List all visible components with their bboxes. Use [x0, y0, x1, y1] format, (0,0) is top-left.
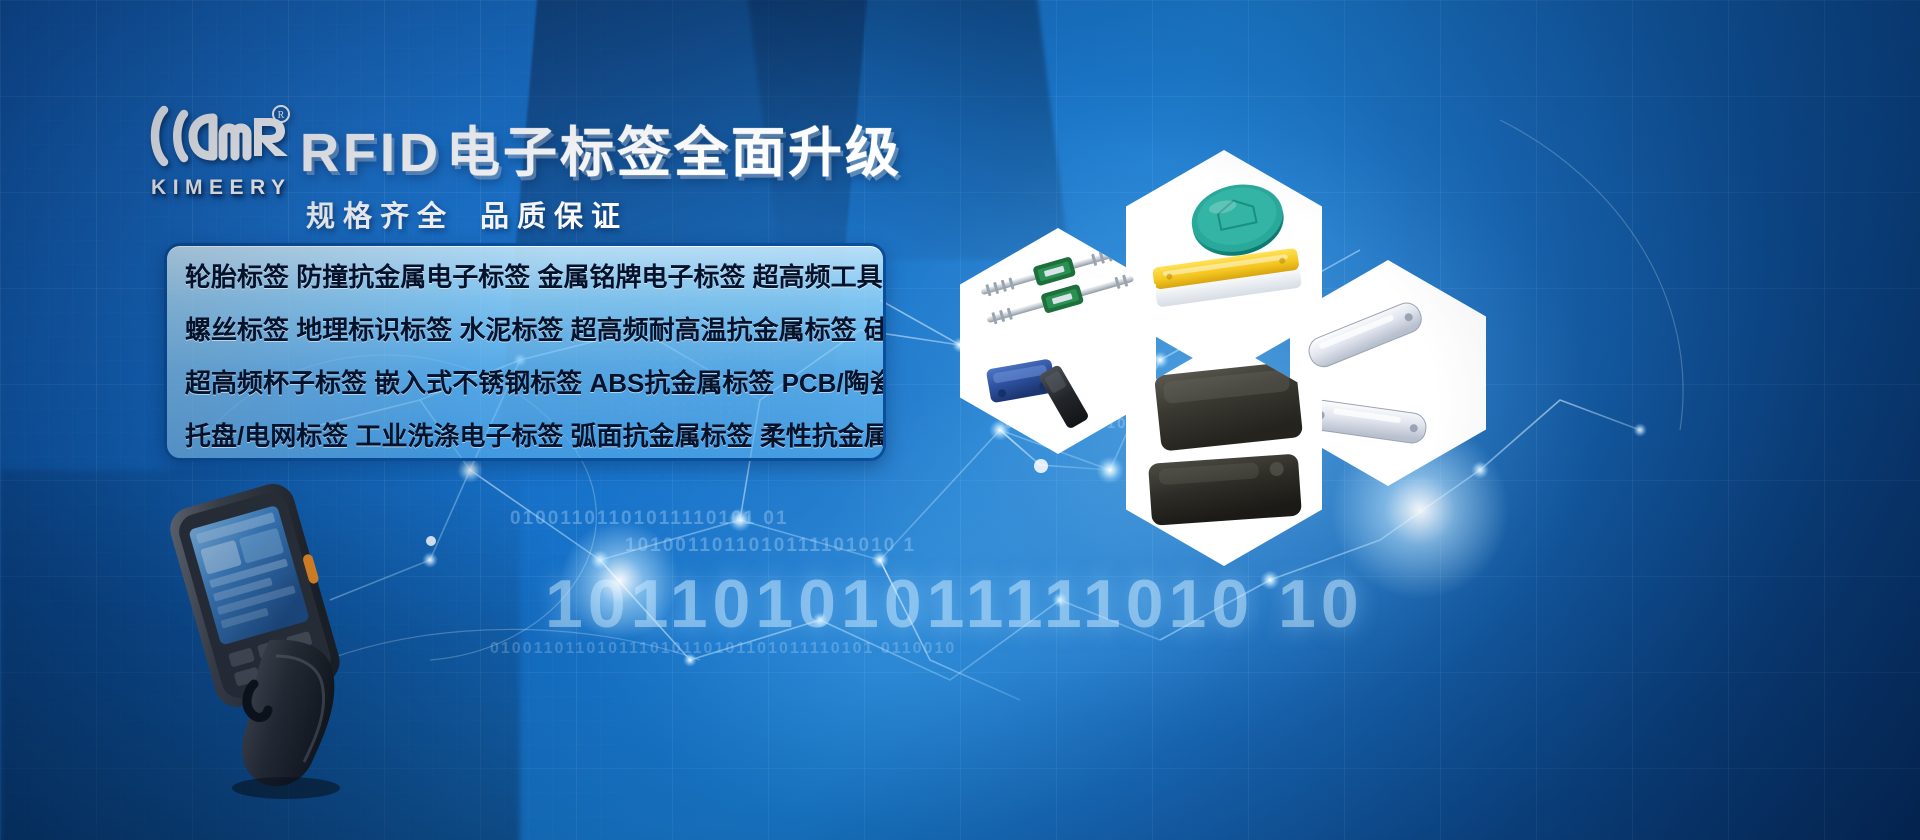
- white-flex-strap-tag: [1305, 299, 1428, 445]
- handheld-rfid-reader: [150, 470, 400, 800]
- registered-trademark-icon: R: [273, 106, 289, 122]
- rfid-promo-banner: 0100110110101111010101 01001101101011110…: [0, 0, 1920, 840]
- page-title: RFID电子标签全面升级: [300, 108, 902, 187]
- binary-stream-2: 01001101101011110101 01: [510, 508, 789, 530]
- tag-row: 超高频杯子标签 嵌入式不锈钢标签 ABS抗金属标签 PCB/陶瓷电子标签: [167, 358, 883, 408]
- blue-block-tags: [1038, 364, 1090, 430]
- dark-grey-abs-tags: [1154, 361, 1303, 451]
- headline-cjk: 电子标签全面升级: [446, 123, 902, 183]
- binary-stream-3: 1010011011010111101010 1: [625, 535, 916, 557]
- yellow-strip-tag: [1152, 248, 1302, 308]
- product-tag-list-panel: 轮胎标签 防撞抗金属电子标签 金属铭牌电子标签 超高频工具标签 螺丝标签 地理标…: [164, 243, 886, 461]
- svg-text:R: R: [278, 110, 285, 121]
- subtitle-right: 品质保证: [480, 201, 628, 233]
- binary-stream-4: 010011011010111010110101101011110101 011…: [490, 640, 956, 658]
- brand-logo: R KIMEERY: [138, 98, 298, 200]
- tag-row: 托盘/电网标签 工业洗涤电子标签 弧面抗金属标签 柔性抗金属标签: [167, 411, 883, 461]
- headline-latin: RFID: [300, 123, 446, 183]
- tag-row: 螺丝标签 地理标识标签 水泥标签 超高频耐高温抗金属标签 硅胶腕带: [167, 305, 883, 355]
- page-subtitle: 规格齐全品质保证: [306, 193, 628, 235]
- brand-wordmark: KIMEERY: [138, 176, 298, 200]
- dark-grey-abs-tags: [1148, 454, 1302, 526]
- product-hexagon-cluster: [940, 150, 1500, 550]
- subtitle-left: 规格齐全: [306, 201, 454, 233]
- tag-row: 轮胎标签 防撞抗金属电子标签 金属铭牌电子标签 超高频工具标签: [167, 252, 883, 302]
- kimeery-wave-mark-icon: R: [138, 98, 298, 174]
- round-teal-disc-tag: [1185, 176, 1290, 264]
- binary-stream-large: 10110101011111010 10: [545, 565, 1364, 643]
